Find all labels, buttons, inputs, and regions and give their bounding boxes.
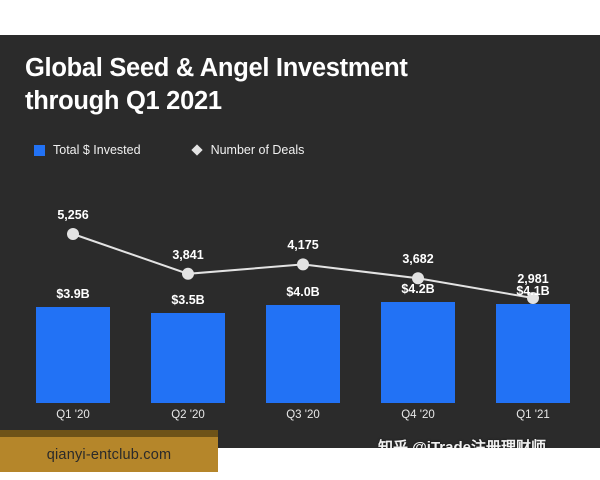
deals-value-label: 2,981 [517, 272, 548, 286]
x-axis-tick-label: Q1 '21 [516, 409, 550, 421]
site-watermark-text: qianyi-entclub.com [47, 447, 172, 463]
bar-group: $3.5BQ2 '20 [151, 313, 225, 403]
bar-rect[interactable] [381, 302, 455, 403]
bar-value-label: $4.0B [286, 285, 319, 299]
chart-panel: Global Seed & Angel Investment through Q… [0, 35, 600, 448]
deals-value-label: 5,256 [57, 208, 88, 222]
bar-group: $4.2BQ4 '20 [381, 302, 455, 403]
site-watermark: qianyi-entclub.com [0, 430, 218, 472]
bar-value-label: $4.2B [401, 282, 434, 296]
bar-rect[interactable] [36, 307, 110, 403]
x-axis-tick-label: Q1 '20 [56, 409, 90, 421]
deals-line-point[interactable] [67, 228, 79, 240]
deals-line-point[interactable] [182, 268, 194, 280]
bar-group: $4.0BQ3 '20 [266, 305, 340, 403]
bar-value-label: $3.9B [56, 287, 89, 301]
x-axis-tick-label: Q4 '20 [401, 409, 435, 421]
plot-area: $3.9BQ1 '20$3.5BQ2 '20$4.0BQ3 '20$4.2BQ4… [0, 35, 600, 448]
bar-rect[interactable] [151, 313, 225, 403]
bar-value-label: $3.5B [171, 293, 204, 307]
bar-rect[interactable] [496, 304, 570, 403]
x-axis-tick-label: Q3 '20 [286, 409, 320, 421]
bar-rect[interactable] [266, 305, 340, 403]
zhihu-watermark: 知乎 @iTrade注册理财师 [378, 436, 546, 448]
bar-group: $4.1BQ1 '21 [496, 304, 570, 403]
bar-group: $3.9BQ1 '20 [36, 307, 110, 403]
deals-value-label: 4,175 [287, 238, 318, 252]
x-axis-tick-label: Q2 '20 [171, 409, 205, 421]
deals-value-label: 3,841 [172, 248, 203, 262]
deals-line-point[interactable] [297, 258, 309, 270]
deals-value-label: 3,682 [402, 252, 433, 266]
